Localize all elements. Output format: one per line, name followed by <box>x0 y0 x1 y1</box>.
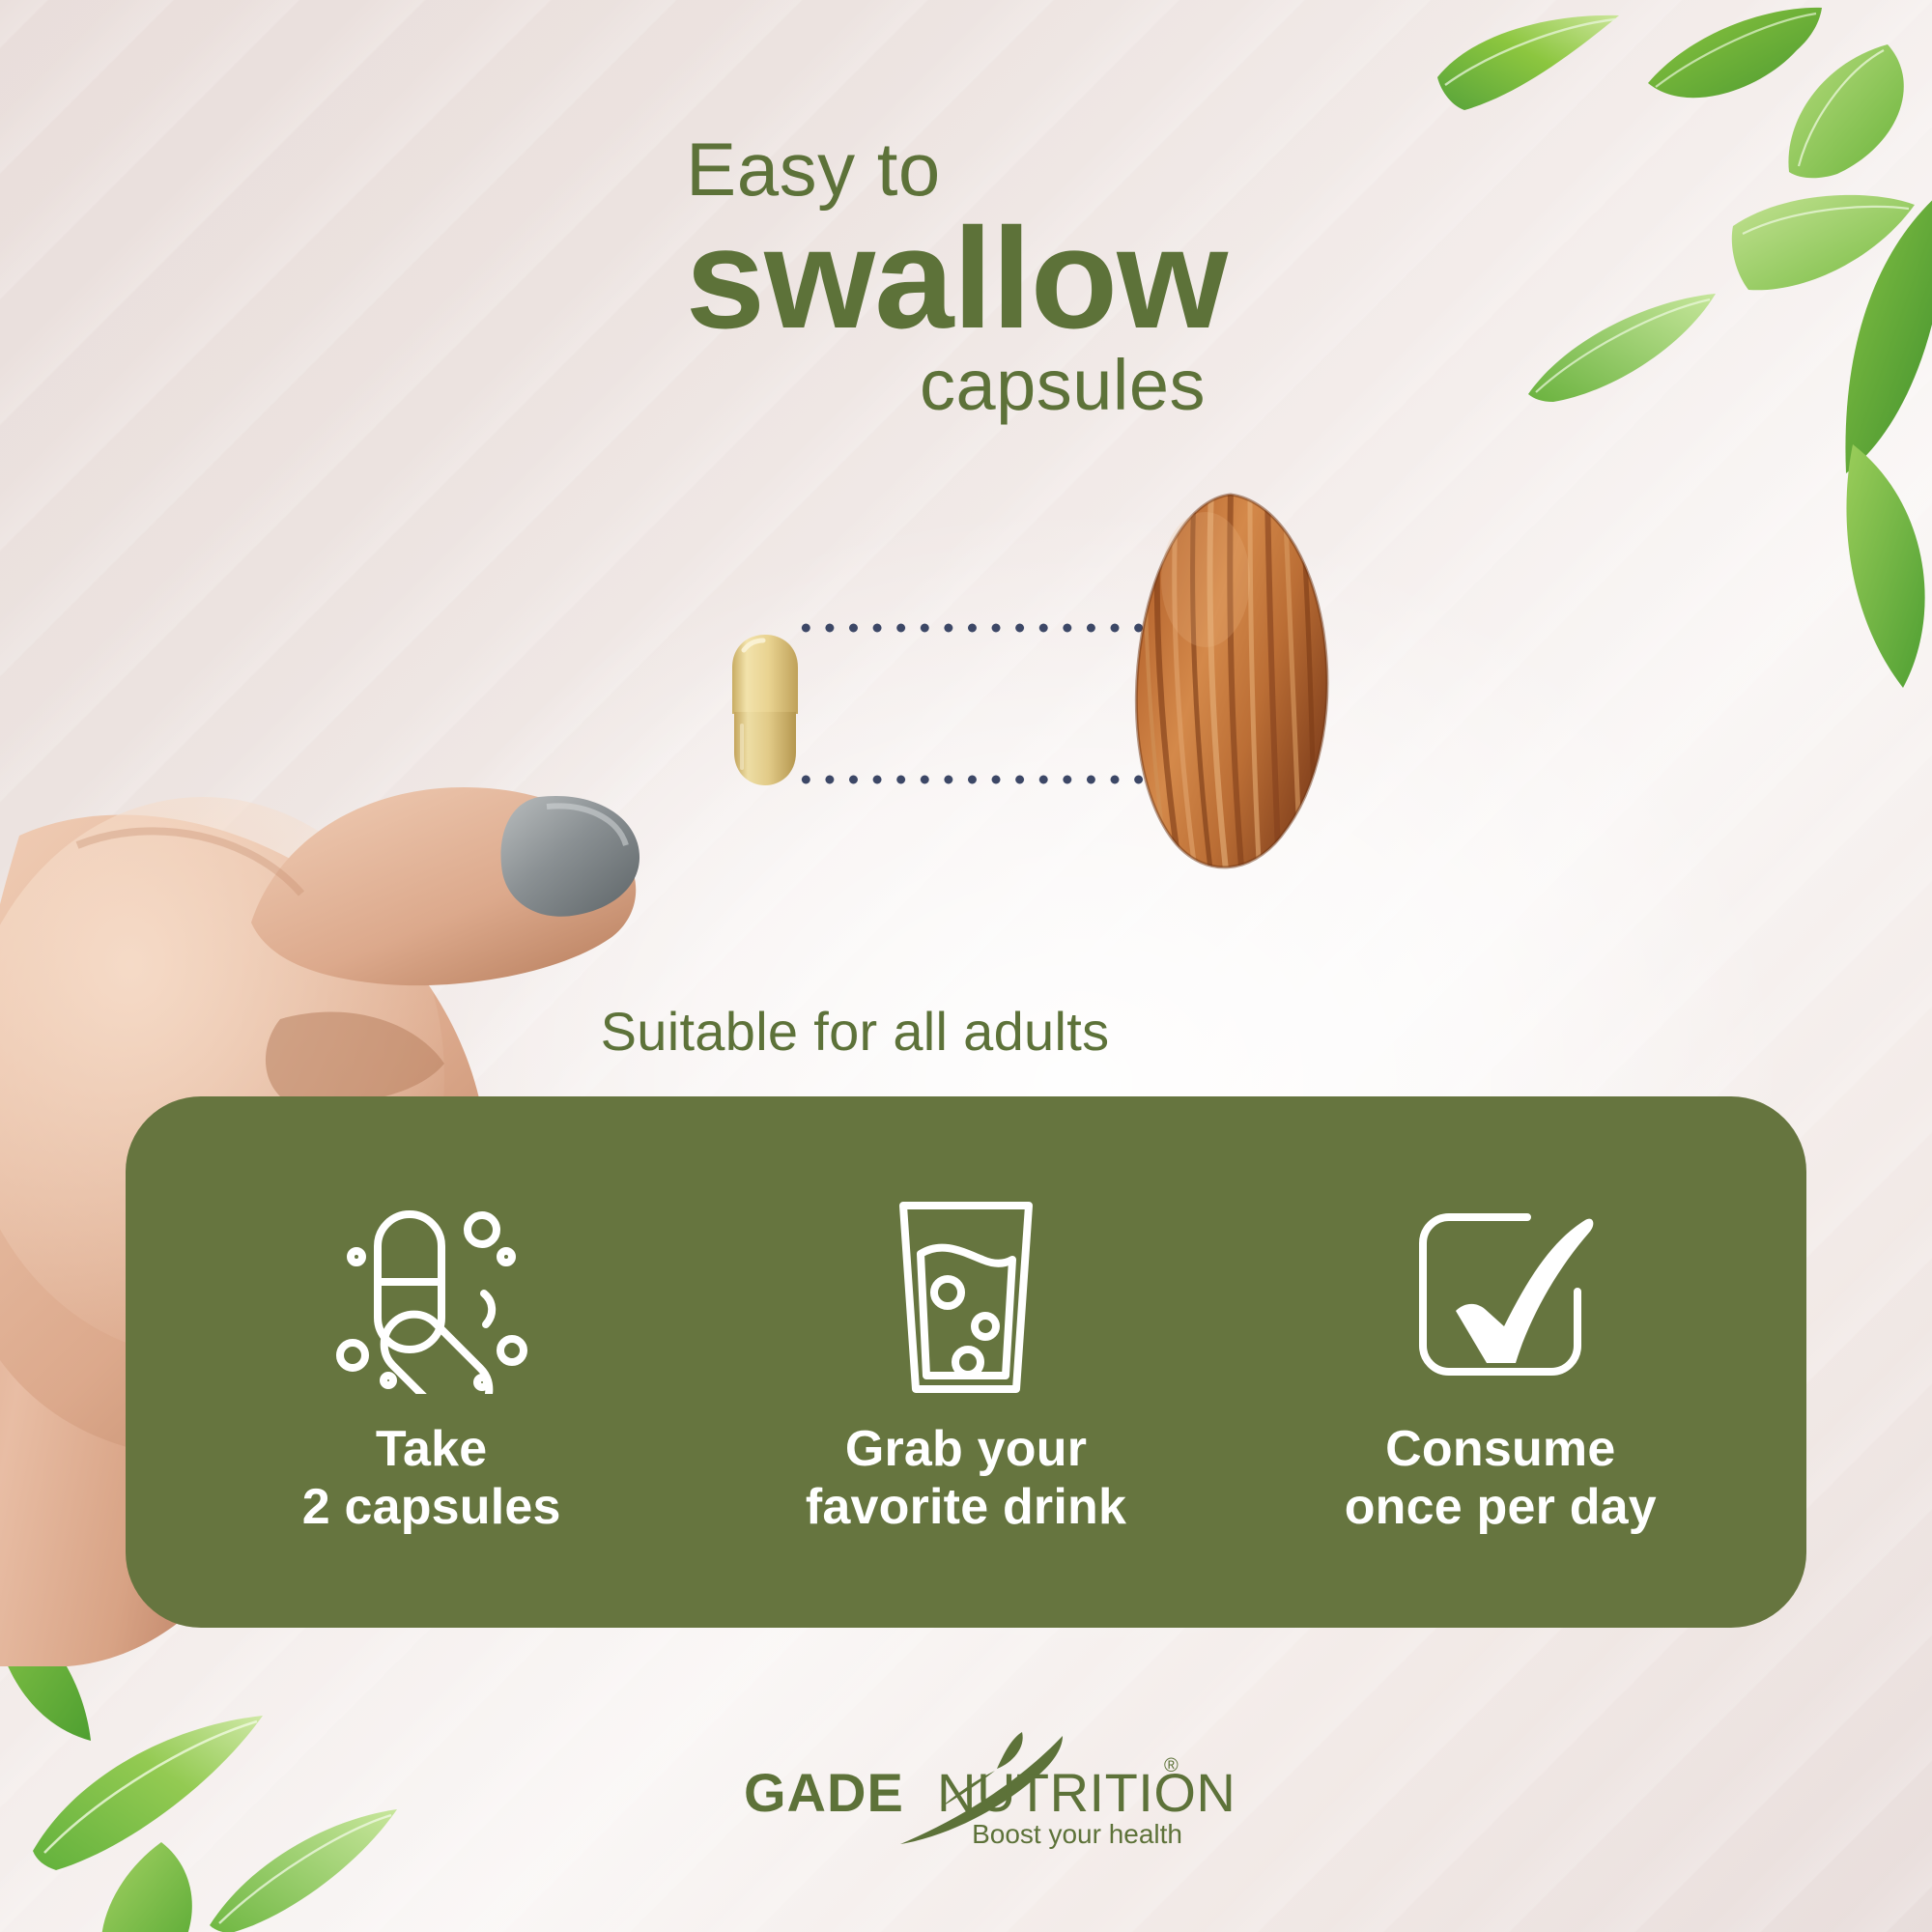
instruction-step-consume-daily: Consume once per day <box>1234 1188 1768 1537</box>
size-comparison-line-bottom <box>794 773 1153 786</box>
leaf-decoration-top-right-2 <box>1642 0 1826 145</box>
logo-registered-mark: ® <box>1164 1755 1179 1777</box>
instruction-step-label: Consume once per day <box>1345 1420 1657 1537</box>
leaf-decoration-bottom-left-1 <box>27 1710 269 1884</box>
leaf-decoration-top-right-4 <box>1729 184 1918 309</box>
logo-tagline: Boost your health <box>972 1819 1182 1850</box>
instruction-step-take-capsules: Take 2 capsules <box>164 1188 698 1537</box>
leaf-decoration-top-right-1 <box>1430 10 1623 135</box>
logo-brand-bold: GADE <box>744 1761 904 1824</box>
size-comparison-line-top <box>794 621 1153 635</box>
brand-logo: GADE NUTRITION ® Boost your health <box>0 1734 1932 1855</box>
logo-swoosh-leaf-icon <box>881 1730 1065 1848</box>
leaf-decoration-right-lower <box>1835 444 1932 696</box>
leaf-decoration-top-right-3 <box>1777 39 1932 184</box>
logo-brand-light: NUTRITION <box>937 1761 1236 1824</box>
almond-image <box>1130 493 1333 879</box>
leaf-decoration-right-edge <box>1831 184 1932 493</box>
instruction-step-label: Take 2 capsules <box>302 1420 561 1537</box>
poster-canvas: Easy to swallow capsules <box>0 0 1932 1932</box>
headline-block: Easy to swallow capsules <box>0 135 1932 421</box>
leaf-decoration-bottom-left-2 <box>92 1840 256 1932</box>
capsule-pill <box>726 633 804 787</box>
instructions-card: Take 2 capsules Grab your favorite drink <box>126 1096 1806 1628</box>
leaf-decoration-bottom-left-3 <box>208 1802 401 1932</box>
instruction-step-label: Grab your favorite drink <box>806 1420 1126 1537</box>
leaf-decoration-top-right-5 <box>1526 290 1719 406</box>
checkbox-check-icon <box>1404 1196 1597 1399</box>
instruction-step-grab-drink: Grab your favorite drink <box>698 1188 1233 1537</box>
headline-line-1: Easy to <box>0 135 1627 205</box>
water-glass-icon <box>874 1196 1058 1399</box>
capsules-icon <box>335 1196 528 1399</box>
headline-line-2: swallow <box>0 205 1913 354</box>
